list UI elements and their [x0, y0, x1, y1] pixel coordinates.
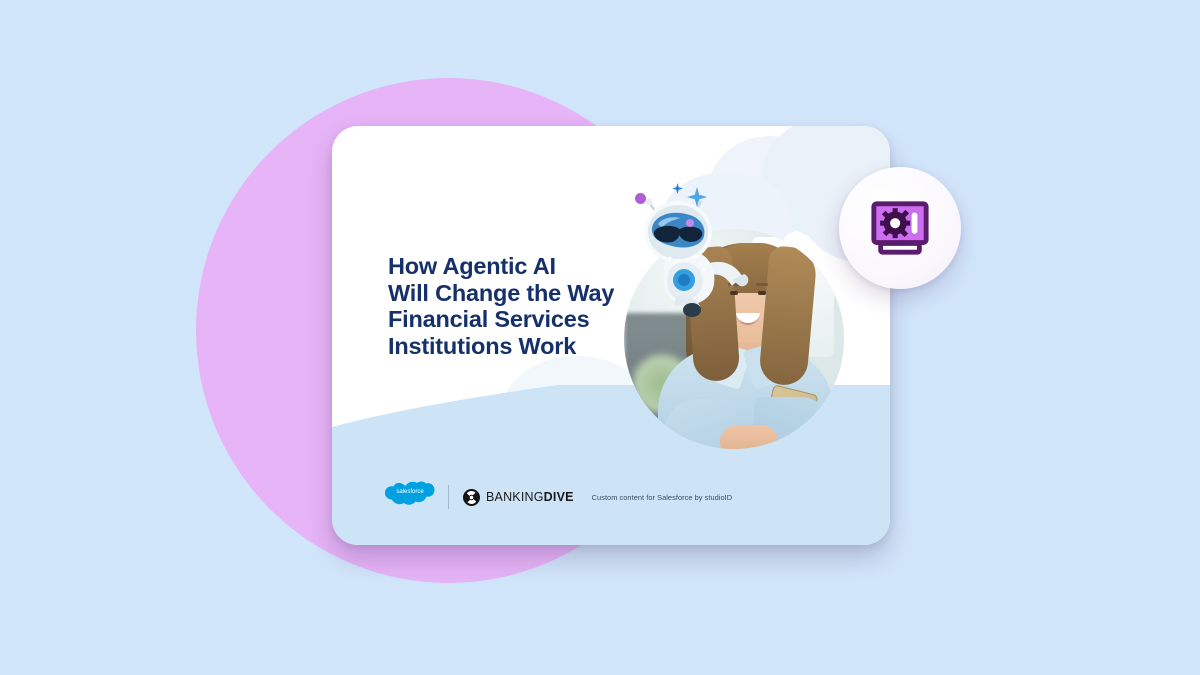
blue-sparkle-large-icon — [687, 187, 707, 207]
blue-sparkle-small-icon — [672, 183, 683, 194]
dive-word: DIVE — [544, 490, 574, 504]
salesforce-logo-icon: salesforce — [384, 479, 436, 515]
vault-badge[interactable] — [839, 167, 961, 289]
credit-text: Custom content for Salesforce by studioI… — [592, 493, 732, 502]
salesforce-wordmark: salesforce — [396, 489, 424, 495]
banking-dive-logo: BANKINGDIVE — [463, 489, 574, 506]
footer-brand-row: salesforce BANKINGDIVE Custom content fo… — [384, 479, 732, 515]
avatar-hands — [720, 425, 778, 449]
page-title: How Agentic AI Will Change the Way Finan… — [388, 253, 638, 359]
avatar-eye-right — [758, 291, 766, 295]
screenshot-stage: How Agentic AI Will Change the Way Finan… — [0, 0, 1200, 675]
footer-divider — [448, 485, 449, 509]
report-cover-card[interactable]: How Agentic AI Will Change the Way Finan… — [332, 126, 890, 545]
banking-dive-mark-icon — [463, 489, 480, 506]
purple-dot-large-icon — [635, 193, 646, 204]
banking-word: BANKING — [486, 490, 544, 504]
card-inner: How Agentic AI Will Change the Way Finan… — [332, 126, 890, 545]
vault-gear-icon — [869, 197, 931, 259]
avatar-brow-right — [756, 283, 768, 286]
purple-dot-small-icon — [686, 219, 694, 227]
banking-dive-wordmark: BANKINGDIVE — [486, 490, 574, 504]
